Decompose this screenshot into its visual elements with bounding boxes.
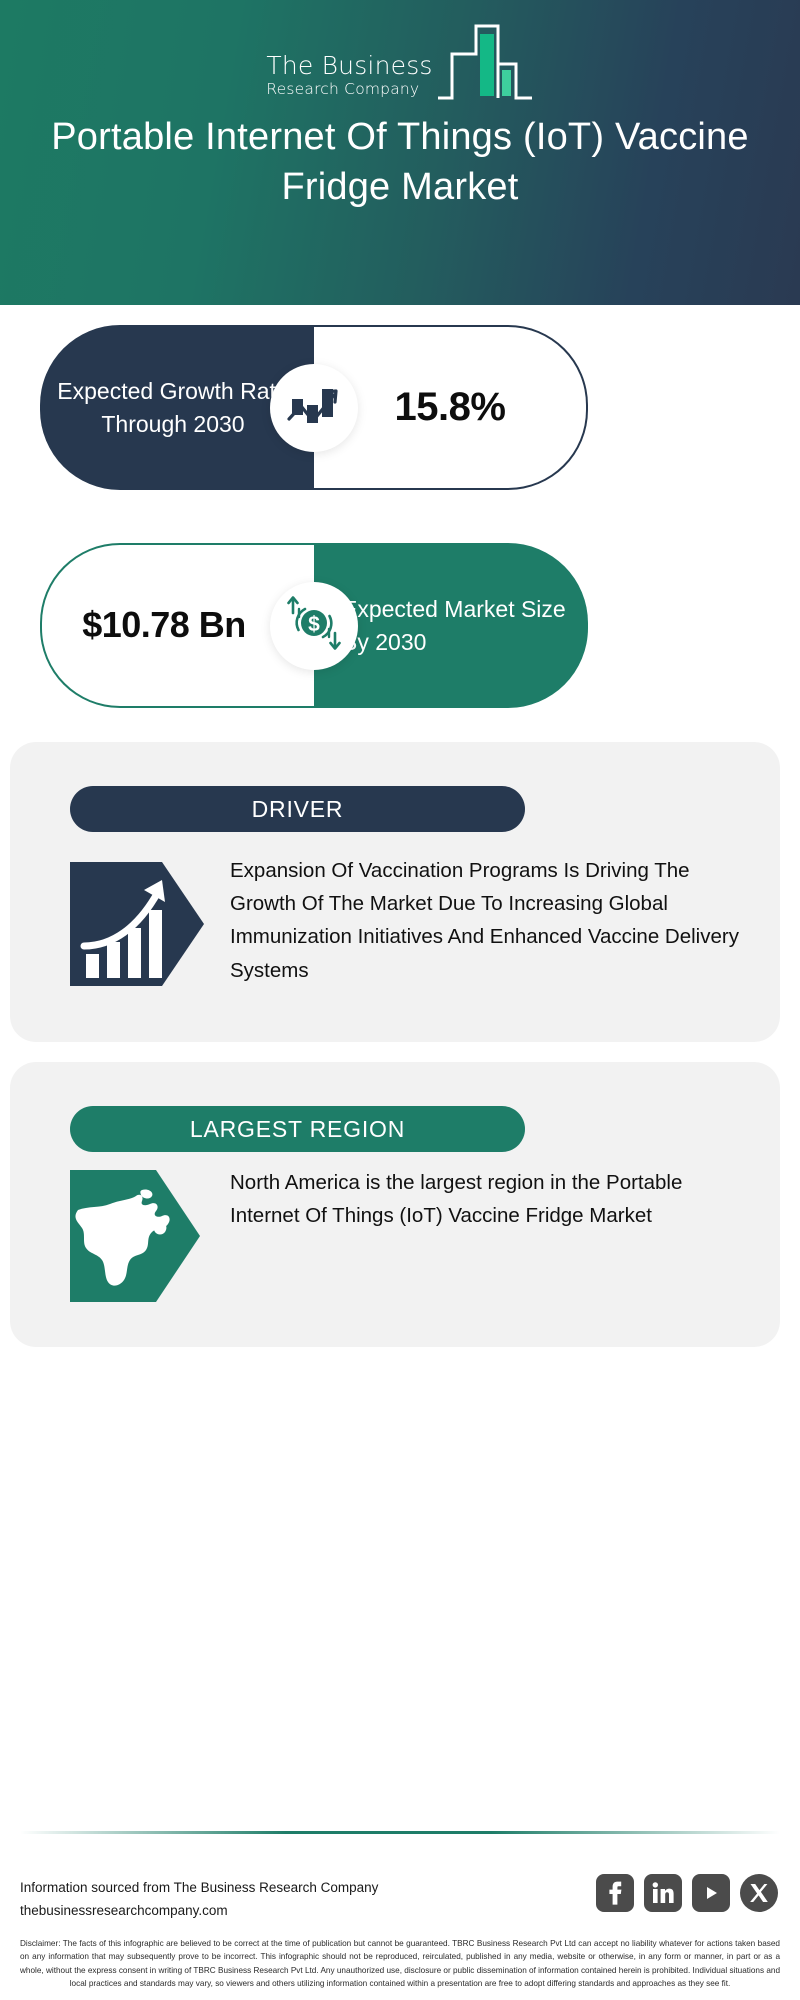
company-logo: The Business Research Company [0, 18, 800, 105]
linkedin-icon[interactable] [644, 1874, 682, 1912]
dollar-circulation-icon: $ [285, 595, 343, 656]
bar-chart-growth-arrow-icon [286, 379, 342, 436]
x-twitter-icon[interactable] [740, 1874, 778, 1912]
svg-text:$: $ [308, 613, 320, 636]
footer-source-website[interactable]: thebusinessresearchcompany.com [20, 1900, 378, 1923]
market-size-value: $10.78 Bn [82, 602, 274, 648]
driver-card-body: Expansion Of Vaccination Programs Is Dri… [70, 854, 740, 994]
stat-band-growth-rate: Expected Growth Rate Through 2030 15.8% [40, 325, 588, 490]
logo-line-1: The Business [266, 53, 432, 78]
market-size-badge: $ [270, 582, 358, 670]
stat-band-market-size: $10.78 Bn Expected Market Size By 2030 $ [40, 543, 588, 708]
driver-card-text: Expansion Of Vaccination Programs Is Dri… [230, 854, 740, 994]
largest-region-card-text: North America is the largest region in t… [230, 1166, 740, 1306]
driver-heading-label: DRIVER [252, 796, 344, 823]
page-title: Portable Internet Of Things (IoT) Vaccin… [40, 112, 760, 212]
largest-region-card-body: North America is the largest region in t… [70, 1166, 740, 1306]
disclaimer-text: Disclaimer: The facts of this infographi… [20, 1937, 780, 1990]
driver-heading-pill: DRIVER [70, 786, 525, 832]
infographic-page: The Business Research Company Portable I… [0, 0, 800, 2000]
youtube-icon[interactable] [692, 1874, 730, 1912]
facebook-icon[interactable] [596, 1874, 634, 1912]
north-america-map-pentagon-icon [70, 1166, 210, 1306]
growth-rate-badge [270, 364, 358, 452]
growth-chart-pentagon-icon [70, 854, 210, 994]
logo-line-2: Research Company [266, 82, 419, 98]
logo-wordmark: The Business Research Company [266, 53, 432, 106]
footer-source-line-1: Information sourced from The Business Re… [20, 1877, 378, 1900]
footer-divider [20, 1831, 780, 1834]
header-banner: The Business Research Company Portable I… [0, 0, 800, 305]
social-links [596, 1874, 778, 1912]
footer-source: Information sourced from The Business Re… [20, 1877, 378, 1922]
driver-card: DRIVER Expansion Of Vaccination Programs… [10, 742, 780, 1042]
largest-region-card: LARGEST REGION North America is the larg… [10, 1062, 780, 1347]
largest-region-heading-pill: LARGEST REGION [70, 1106, 525, 1152]
bar-chart-logo-mark-icon [436, 18, 534, 105]
growth-rate-value: 15.8% [395, 385, 506, 430]
largest-region-heading-label: LARGEST REGION [190, 1116, 405, 1143]
